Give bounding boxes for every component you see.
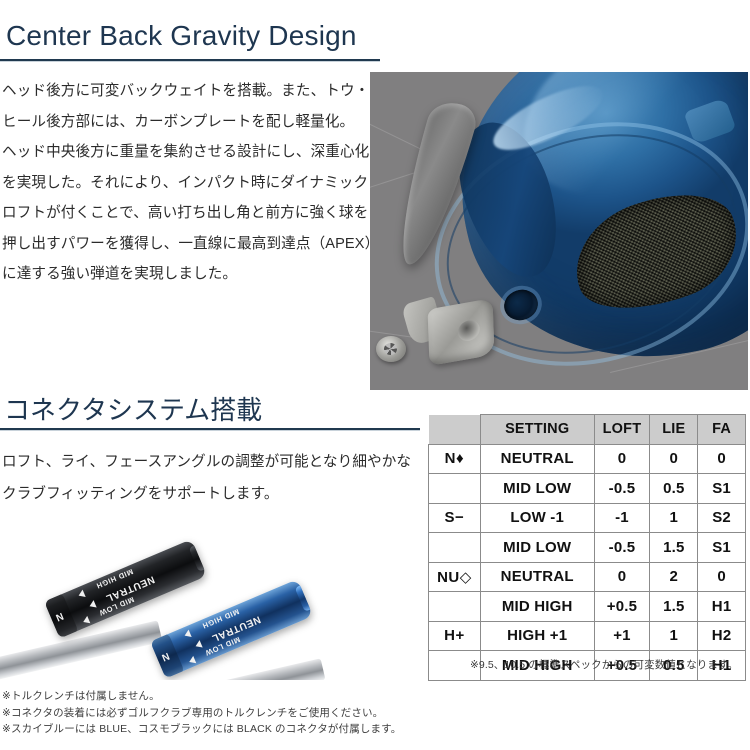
cell-loft: 0 — [594, 562, 650, 592]
cell-lie: 0 — [650, 444, 698, 474]
cell-loft: +0.5 — [594, 592, 650, 622]
paragraph-line: を実現した。それにより、インパクト時にダイナミック — [2, 168, 379, 199]
cell-loft: -0.5 — [594, 474, 650, 504]
cell-key — [429, 533, 481, 563]
cell-setting: HIGH +1 — [480, 621, 594, 651]
paragraph-line: ヘッド後方に可変バックウェイトを搭載。また、トウ・ — [2, 76, 379, 107]
cell-fa: S1 — [698, 533, 746, 563]
cell-setting: MID LOW — [480, 533, 594, 563]
connector-tip — [189, 539, 207, 572]
arrow-icon — [88, 600, 97, 610]
column-header-fa: FA — [698, 415, 746, 445]
connector-black: NEUTRAL MID HIGH MID LOW N — [44, 539, 207, 638]
cell-key — [429, 474, 481, 504]
column-header-setting: SETTING — [480, 415, 594, 445]
cell-loft: +1 — [594, 621, 650, 651]
club-head-render — [370, 72, 748, 390]
cell-key: H+ — [429, 621, 481, 651]
arrow-icon — [188, 656, 197, 666]
connector-blue: NEUTRAL MID HIGH MID LOW N — [150, 579, 313, 678]
cell-lie: 1.5 — [650, 592, 698, 622]
footnote-line: ※スカイブルーには BLUE、コスモブラックには BLACK のコネクタが付属し… — [2, 721, 401, 738]
cell-setting: NEUTRAL — [480, 562, 594, 592]
cell-key — [429, 592, 481, 622]
arrow-icon — [82, 616, 91, 626]
cell-key: S− — [429, 503, 481, 533]
table-row: MID LOW -0.5 1.5 S1 — [429, 533, 746, 563]
footnote-line: ※コネクタの装着には必ずゴルフクラブ専用のトルクレンチをご使用ください。 — [2, 705, 401, 722]
table-row: N♦ NEUTRAL 0 0 0 — [429, 444, 746, 474]
table-row: H+ HIGH +1 +1 1 H2 — [429, 621, 746, 651]
spec-table-body: N♦ NEUTRAL 0 0 0 MID LOW -0.5 0.5 S1 S− … — [429, 444, 746, 680]
cell-fa: H1 — [698, 592, 746, 622]
cell-fa: S2 — [698, 503, 746, 533]
arrow-icon — [183, 630, 192, 640]
spec-table-head: SETTING LOFT LIE FA — [429, 415, 746, 445]
page-title: Center Back Gravity Design — [6, 20, 357, 52]
back-weight-part — [428, 298, 495, 366]
cell-setting: LOW -1 — [480, 503, 594, 533]
arrow-icon — [194, 640, 203, 650]
cell-lie: 2 — [650, 562, 698, 592]
cell-loft: -1 — [594, 503, 650, 533]
cell-lie: 1 — [650, 621, 698, 651]
connector-photo: NEUTRAL MID HIGH MID LOW N NEUTRAL MID H… — [0, 512, 410, 680]
paragraph-line: ロフト、ライ、フェースアングルの調整が可能となり細やかな — [2, 446, 411, 478]
product-feature-page: Center Back Gravity Design ヘッド後方に可変バックウェ… — [0, 0, 750, 750]
section-two-divider — [0, 428, 420, 430]
cell-setting: MID LOW — [480, 474, 594, 504]
cell-fa: H2 — [698, 621, 746, 651]
section-two-paragraph: ロフト、ライ、フェースアングルの調整が可能となり細やかな クラブフィッティングを… — [2, 446, 411, 510]
cell-lie: 1 — [650, 503, 698, 533]
cell-loft: 0 — [594, 444, 650, 474]
section-two-title: コネクタシステム搭載 — [4, 390, 262, 427]
table-row: S− LOW -1 -1 1 S2 — [429, 503, 746, 533]
cell-setting: NEUTRAL — [480, 444, 594, 474]
paragraph-line: クラブフィッティングをサポートします。 — [2, 478, 411, 510]
paragraph-line: 押し出すパワーを獲得し、一直線に最高到達点（APEX） — [2, 229, 379, 260]
paragraph-line: ヒール後方部には、カーボンプレートを配し軽量化。 — [2, 107, 379, 138]
weight-screw-part — [376, 336, 406, 362]
table-row: MID LOW -0.5 0.5 S1 — [429, 474, 746, 504]
spec-table-note: ※9.5、10.5 の標準スペックからの可変数値となります。 — [470, 657, 738, 672]
cell-fa: 0 — [698, 444, 746, 474]
column-header-blank — [429, 415, 481, 445]
section-one-paragraph: ヘッド後方に可変バックウェイトを搭載。また、トウ・ ヒール後方部には、カーボンプ… — [2, 76, 379, 290]
cell-key: N♦ — [429, 444, 481, 474]
paragraph-line: ロフトが付くことで、高い打ち出し角と前方に強く球を — [2, 198, 379, 229]
column-header-lie: LIE — [650, 415, 698, 445]
cell-loft: -0.5 — [594, 533, 650, 563]
cell-key: NU◇ — [429, 562, 481, 592]
cell-lie: 1.5 — [650, 533, 698, 563]
title-divider — [0, 59, 380, 61]
arrow-icon — [77, 590, 86, 600]
table-row: MID HIGH +0.5 1.5 H1 — [429, 592, 746, 622]
cell-fa: S1 — [698, 474, 746, 504]
paragraph-line: ヘッド中央後方に重量を集約させる設計にし、深重心化 — [2, 137, 379, 168]
shaft-blue — [121, 658, 326, 680]
spec-table: SETTING LOFT LIE FA N♦ NEUTRAL 0 0 0 MID… — [428, 414, 746, 681]
table-row: NU◇ NEUTRAL 0 2 0 — [429, 562, 746, 592]
column-header-loft: LOFT — [594, 415, 650, 445]
paragraph-line: に達する強い弾道を実現しました。 — [2, 259, 379, 290]
connector-tip — [295, 579, 313, 612]
table-header-row: SETTING LOFT LIE FA — [429, 415, 746, 445]
footnote-line: ※トルクレンチは付属しません。 — [2, 688, 401, 705]
cell-lie: 0.5 — [650, 474, 698, 504]
cell-setting: MID HIGH — [480, 592, 594, 622]
cell-fa: 0 — [698, 562, 746, 592]
footnotes: ※トルクレンチは付属しません。 ※コネクタの装着には必ずゴルフクラブ専用のトルク… — [2, 688, 401, 738]
